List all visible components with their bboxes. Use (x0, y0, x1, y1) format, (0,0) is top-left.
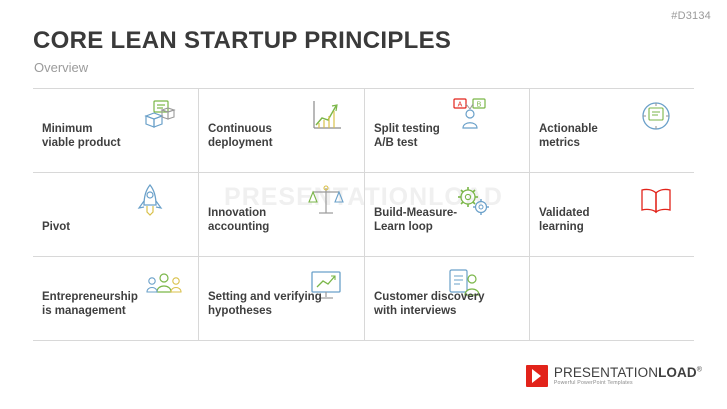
logo-name-light: PRESENTATION (554, 365, 658, 380)
cell-validated-learning[interactable]: Validated learning (530, 173, 694, 256)
cell-minimum-viable-product[interactable]: Minimum viable product (33, 88, 198, 172)
logo-name-bold: LOAD (658, 365, 697, 380)
cell-innovation-accounting[interactable]: Innovation accounting (199, 173, 364, 256)
page-subtitle: Overview (34, 60, 88, 75)
cell-label: Build-Measure- Learn loop (374, 206, 457, 234)
cell-label: Continuous deployment (208, 122, 273, 150)
line-chart-icon (306, 96, 346, 136)
slide: #D3134 CORE LEAN STARTUP PRINCIPLES Over… (0, 0, 727, 409)
logo-tagline: Powerful PowerPoint Templates (554, 381, 702, 386)
balance-scale-icon (306, 181, 346, 221)
metrics-gauge-icon (636, 96, 676, 136)
svg-text:A: A (458, 102, 463, 109)
cell-label: Actionable metrics (539, 122, 598, 150)
cell-label: Customer discovery with interviews (374, 290, 485, 318)
gears-icon (453, 181, 493, 221)
cell-label: Entrepreneurship is management (42, 290, 138, 318)
ab-test-person-icon: A B (451, 96, 491, 136)
grid-line-bottom (33, 340, 694, 341)
cell-empty (530, 257, 694, 340)
cell-continuous-deployment[interactable]: Continuous deployment (199, 88, 364, 172)
principles-grid: Minimum viable product Continuous deploy… (33, 88, 694, 340)
cell-actionable-metrics[interactable]: Actionable metrics (530, 88, 694, 172)
logo-registered: ® (697, 366, 702, 373)
svg-text:B: B (477, 102, 482, 109)
play-logo-icon (526, 365, 548, 387)
cell-split-testing-ab-test[interactable]: A B Split testing A/B test (365, 88, 529, 172)
cell-setting-and-verifying-hypotheses[interactable]: Setting and verifying hypotheses (199, 257, 364, 340)
presentationload-logo: PRESENTATIONLOAD® Powerful PowerPoint Te… (526, 365, 702, 387)
cell-label: Pivot (42, 220, 70, 234)
cell-label: Setting and verifying hypotheses (208, 290, 322, 318)
boxes-documents-icon (140, 96, 180, 136)
cell-entrepreneurship-is-management[interactable]: Entrepreneurship is management (33, 257, 198, 340)
open-book-icon (636, 181, 676, 221)
cell-customer-discovery-with-interviews[interactable]: Customer discovery with interviews (365, 257, 529, 340)
page-title: CORE LEAN STARTUP PRINCIPLES (33, 27, 451, 55)
logo-text: PRESENTATIONLOAD® (554, 366, 702, 380)
cell-label: Innovation accounting (208, 206, 269, 234)
cell-build-measure-learn-loop[interactable]: Build-Measure- Learn loop (365, 173, 529, 256)
rocket-icon (130, 181, 170, 221)
team-people-icon (144, 265, 184, 305)
cell-label: Minimum viable product (42, 122, 121, 150)
cell-pivot[interactable]: Pivot (33, 173, 198, 256)
cell-label: Split testing A/B test (374, 122, 440, 150)
slide-code: #D3134 (671, 10, 711, 22)
cell-label: Validated learning (539, 206, 590, 234)
logo-text-wrap: PRESENTATIONLOAD® Powerful PowerPoint Te… (554, 366, 702, 387)
